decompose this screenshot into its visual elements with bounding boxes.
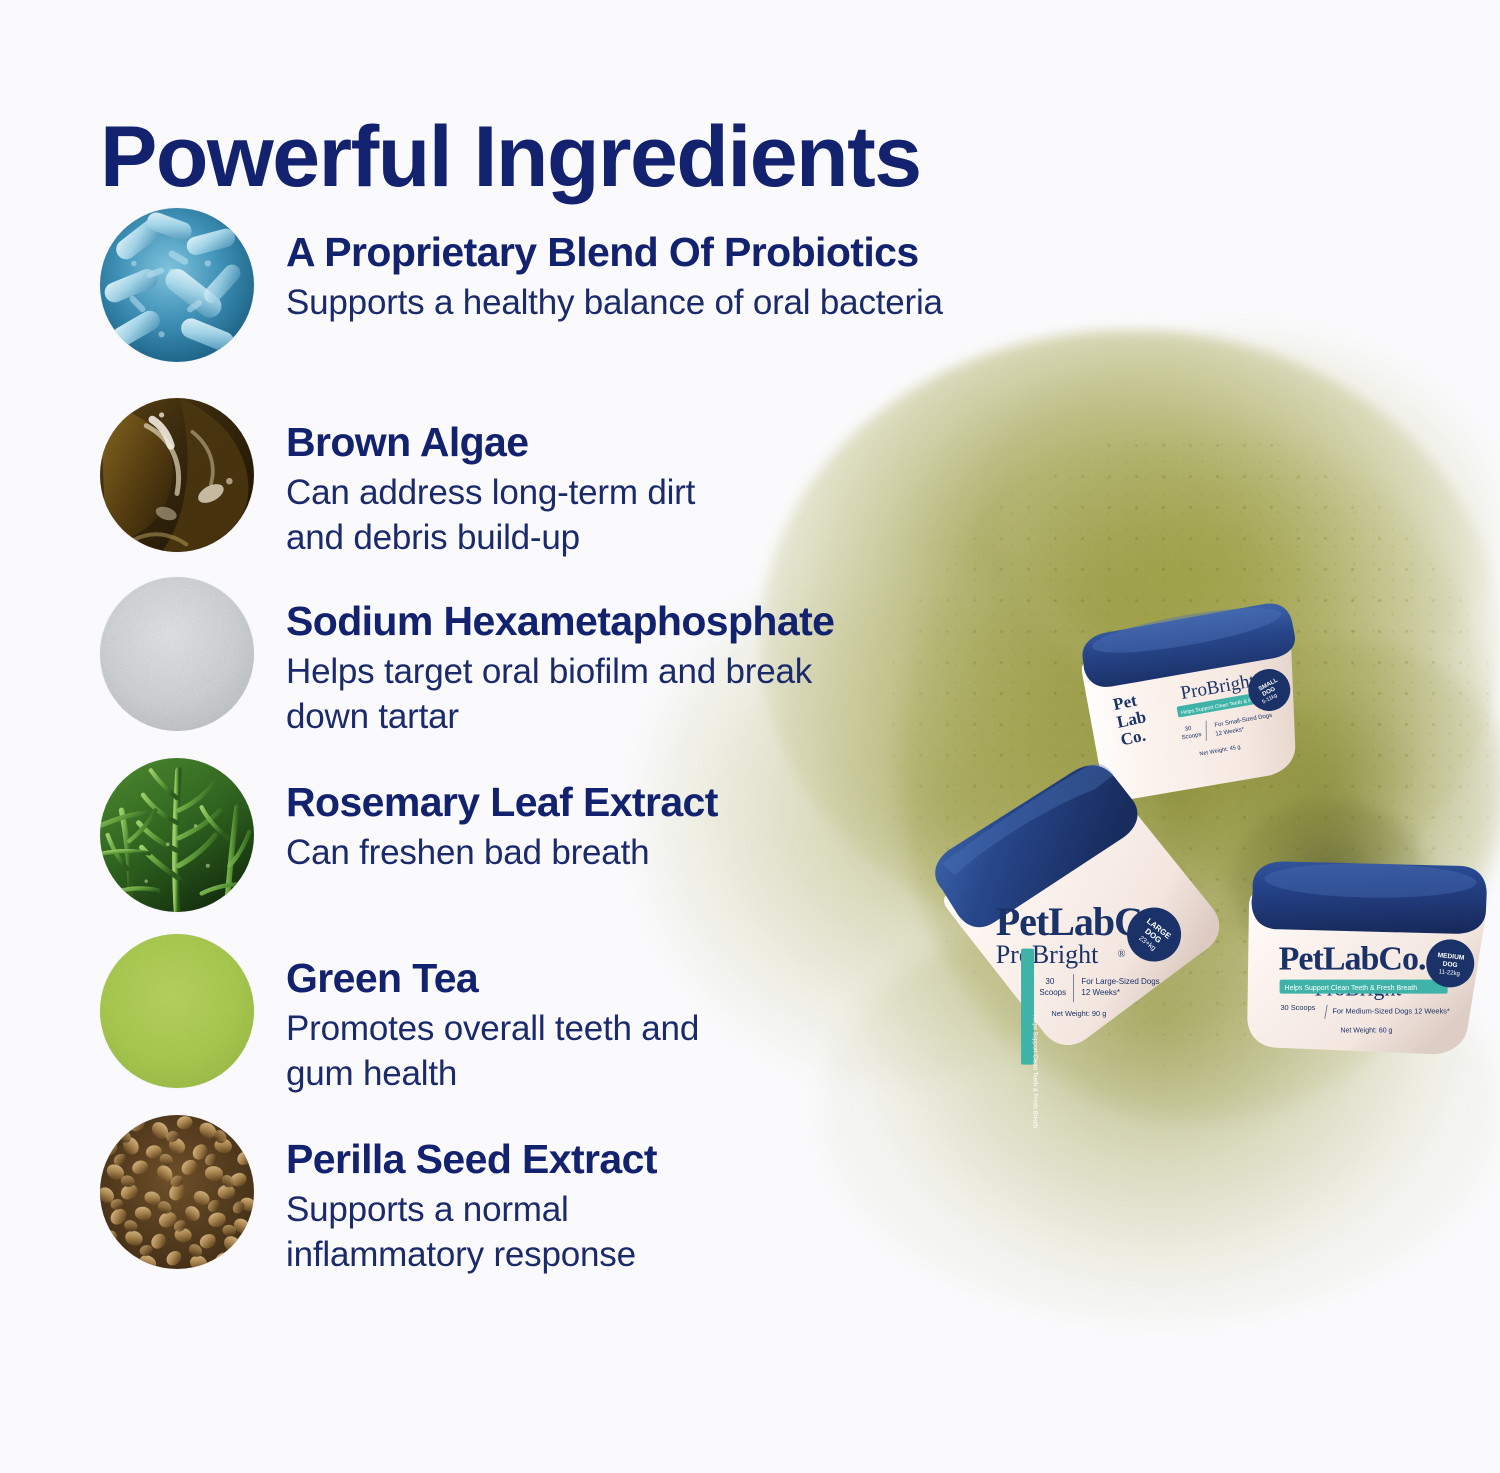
ingredient-description-line-2: down tartar bbox=[286, 695, 1096, 740]
svg-text:For Medium-Sized Dogs 12 Weeks: For Medium-Sized Dogs 12 Weeks* bbox=[1332, 1006, 1449, 1015]
ingredient-text: A Proprietary Blend Of Probiotics Suppor… bbox=[258, 208, 1096, 326]
ingredient-description: Helps target oral biofilm and break down… bbox=[286, 650, 1096, 740]
product-jar-medium[interactable]: PetLabCo. ® ProBright ® Helps Support Cl… bbox=[1217, 833, 1500, 1089]
ingredient-item-sodium-hexametaphosphate: Sodium Hexametaphosphate Helps target or… bbox=[96, 577, 1096, 740]
ingredient-description: Promotes overall teeth and gum health bbox=[286, 1007, 1096, 1097]
swatch-wrapper bbox=[96, 577, 258, 731]
svg-text:For Large-Sized Dogs: For Large-Sized Dogs bbox=[1081, 977, 1159, 986]
ingredient-text: Perilla Seed Extract Supports a normal i… bbox=[258, 1115, 1096, 1278]
ingredient-description: Supports a healthy balance of oral bacte… bbox=[286, 281, 1096, 326]
ingredient-text: Sodium Hexametaphosphate Helps target or… bbox=[258, 577, 1096, 740]
perilla-seeds-icon bbox=[100, 1115, 254, 1269]
ingredient-name: Rosemary Leaf Extract bbox=[286, 780, 1096, 824]
ingredient-description-line-2: gum health bbox=[286, 1052, 1096, 1097]
ingredient-description-line-1: Can address long-term dirt bbox=[286, 471, 1096, 516]
ingredient-description-line-2: and debris build-up bbox=[286, 516, 1096, 561]
ingredient-name: Brown Algae bbox=[286, 420, 1096, 464]
svg-text:30 Scoops: 30 Scoops bbox=[1280, 1003, 1315, 1012]
svg-text:Helps Support Clean Teeth & Fr: Helps Support Clean Teeth & Fresh Breath bbox=[1032, 1015, 1038, 1129]
ingredient-description-line-1: Promotes overall teeth and bbox=[286, 1007, 1096, 1052]
green-tea-matcha-powder-icon bbox=[100, 934, 254, 1088]
ingredient-item-brown-algae: Brown Algae Can address long-term dirt a… bbox=[96, 398, 1096, 561]
rosemary-leaves-icon bbox=[100, 758, 254, 912]
svg-text:Helps Support Clean Teeth & Fr: Helps Support Clean Teeth & Fresh Breath bbox=[1285, 985, 1418, 992]
white-gray-powder-icon bbox=[100, 577, 254, 731]
ingredient-description-line-1: Helps target oral biofilm and break bbox=[286, 650, 1096, 695]
svg-text:®: ® bbox=[1118, 949, 1126, 960]
ingredient-name: A Proprietary Blend Of Probiotics bbox=[286, 230, 1096, 274]
ingredient-description: Supports a normal inflammatory response bbox=[286, 1188, 1096, 1278]
svg-text:Net Weight: 90 g: Net Weight: 90 g bbox=[1051, 1009, 1106, 1018]
ingredient-item-perilla-seed-extract: Perilla Seed Extract Supports a normal i… bbox=[96, 1115, 1096, 1278]
swatch-wrapper bbox=[96, 1115, 258, 1269]
svg-text:ProBright: ProBright bbox=[996, 940, 1099, 969]
svg-text:DOG: DOG bbox=[1442, 961, 1458, 970]
ingredient-description-line-2: inflammatory response bbox=[286, 1233, 1096, 1278]
probiotics-bacteria-icon bbox=[100, 208, 254, 362]
brown-algae-kelp-icon bbox=[100, 398, 254, 552]
ingredients-infographic: Powerful Ingredients bbox=[0, 0, 1500, 1473]
ingredient-text: Brown Algae Can address long-term dirt a… bbox=[258, 398, 1096, 561]
svg-text:PetLabCo.: PetLabCo. bbox=[1279, 940, 1426, 977]
page-title: Powerful Ingredients bbox=[100, 112, 921, 202]
swatch-wrapper bbox=[96, 758, 258, 912]
ingredient-description-line-1: Supports a normal bbox=[286, 1188, 1096, 1233]
svg-text:12 Weeks*: 12 Weeks* bbox=[1081, 988, 1120, 997]
swatch-wrapper bbox=[96, 398, 258, 552]
ingredient-item-probiotics: A Proprietary Blend Of Probiotics Suppor… bbox=[96, 208, 1096, 362]
ingredient-list: A Proprietary Blend Of Probiotics Suppor… bbox=[96, 208, 1096, 1277]
ingredient-item-green-tea: Green Tea Promotes overall teeth and gum… bbox=[96, 934, 1096, 1097]
ingredient-name: Sodium Hexametaphosphate bbox=[286, 599, 1096, 643]
swatch-wrapper bbox=[96, 208, 258, 362]
ingredient-description: Can address long-term dirt and debris bu… bbox=[286, 471, 1096, 561]
svg-text:30: 30 bbox=[1045, 977, 1054, 986]
swatch-wrapper bbox=[96, 934, 258, 1088]
ingredient-name: Perilla Seed Extract bbox=[286, 1137, 1096, 1181]
svg-text:Net Weight: 60 g: Net Weight: 60 g bbox=[1340, 1027, 1392, 1034]
svg-text:Scoops: Scoops bbox=[1039, 988, 1066, 997]
